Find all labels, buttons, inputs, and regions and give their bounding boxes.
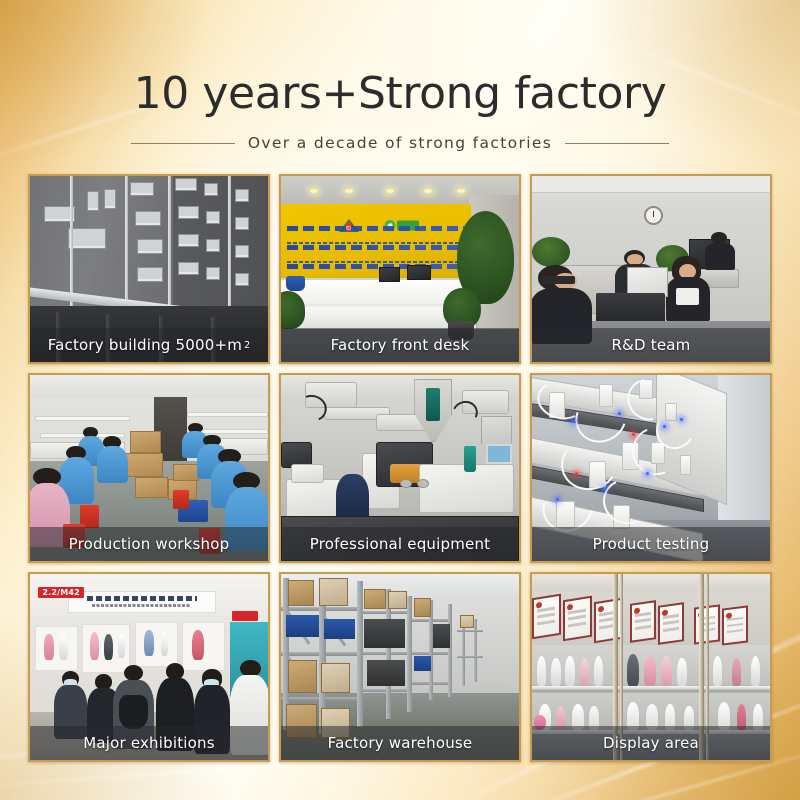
cell-caption: Factory warehouse	[281, 726, 519, 760]
photo-cell-product-testing[interactable]: Product testing	[530, 373, 772, 563]
photo-cell-major-exhibitions[interactable]: 2.2/M42	[28, 572, 270, 762]
booth-side-sign	[232, 611, 258, 621]
poster-root: 10 years+Strong factory Over a decade of…	[0, 0, 800, 800]
caption-text: Factory building 5000+m	[48, 336, 242, 354]
divider-left	[131, 143, 235, 144]
caption-text: Factory warehouse	[328, 734, 473, 752]
caption-text: Factory front desk	[331, 336, 470, 354]
photo-cell-factory-warehouse[interactable]: Factory warehouse	[279, 572, 521, 762]
poster-header: 10 years+Strong factory Over a decade of…	[0, 0, 800, 152]
booth-number-badge: 2.2/M42	[38, 587, 84, 598]
booth-company-sign	[68, 591, 216, 613]
wall-clock-icon	[644, 206, 663, 225]
subtitle-row: Over a decade of strong factories	[0, 134, 800, 152]
cell-caption: Display area	[532, 726, 770, 760]
caption-text: Production workshop	[69, 535, 230, 553]
cell-caption: Factory building 5000+m2	[30, 328, 268, 362]
cell-caption: Professional equipment	[281, 527, 519, 561]
caption-text: Product testing	[593, 535, 710, 553]
divider-right	[565, 143, 669, 144]
photo-cell-production-workshop[interactable]: Production workshop	[28, 373, 270, 563]
cell-caption: Production workshop	[30, 527, 268, 561]
photo-cell-factory-building[interactable]: Factory building 5000+m2	[28, 174, 270, 364]
page-subtitle: Over a decade of strong factories	[248, 134, 552, 152]
caption-text: Professional equipment	[310, 535, 491, 553]
photo-cell-display-area[interactable]: Display area	[530, 572, 772, 762]
cell-caption: Major exhibitions	[30, 726, 268, 760]
cell-caption: R&D team	[532, 328, 770, 362]
caption-superscript: 2	[244, 340, 250, 351]
caption-text: Display area	[603, 734, 699, 752]
page-title: 10 years+Strong factory	[0, 72, 800, 116]
photo-grid: Factory building 5000+m2 VDS	[28, 174, 772, 762]
photo-cell-professional-equipment[interactable]: Professional equipment	[279, 373, 521, 563]
cell-caption: Factory front desk	[281, 328, 519, 362]
photo-cell-factory-front-desk[interactable]: VDS	[279, 174, 521, 364]
caption-text: Major exhibitions	[83, 734, 215, 752]
caption-text: R&D team	[612, 336, 691, 354]
photo-cell-rd-team[interactable]: R&D team	[530, 174, 772, 364]
cell-caption: Product testing	[532, 527, 770, 561]
